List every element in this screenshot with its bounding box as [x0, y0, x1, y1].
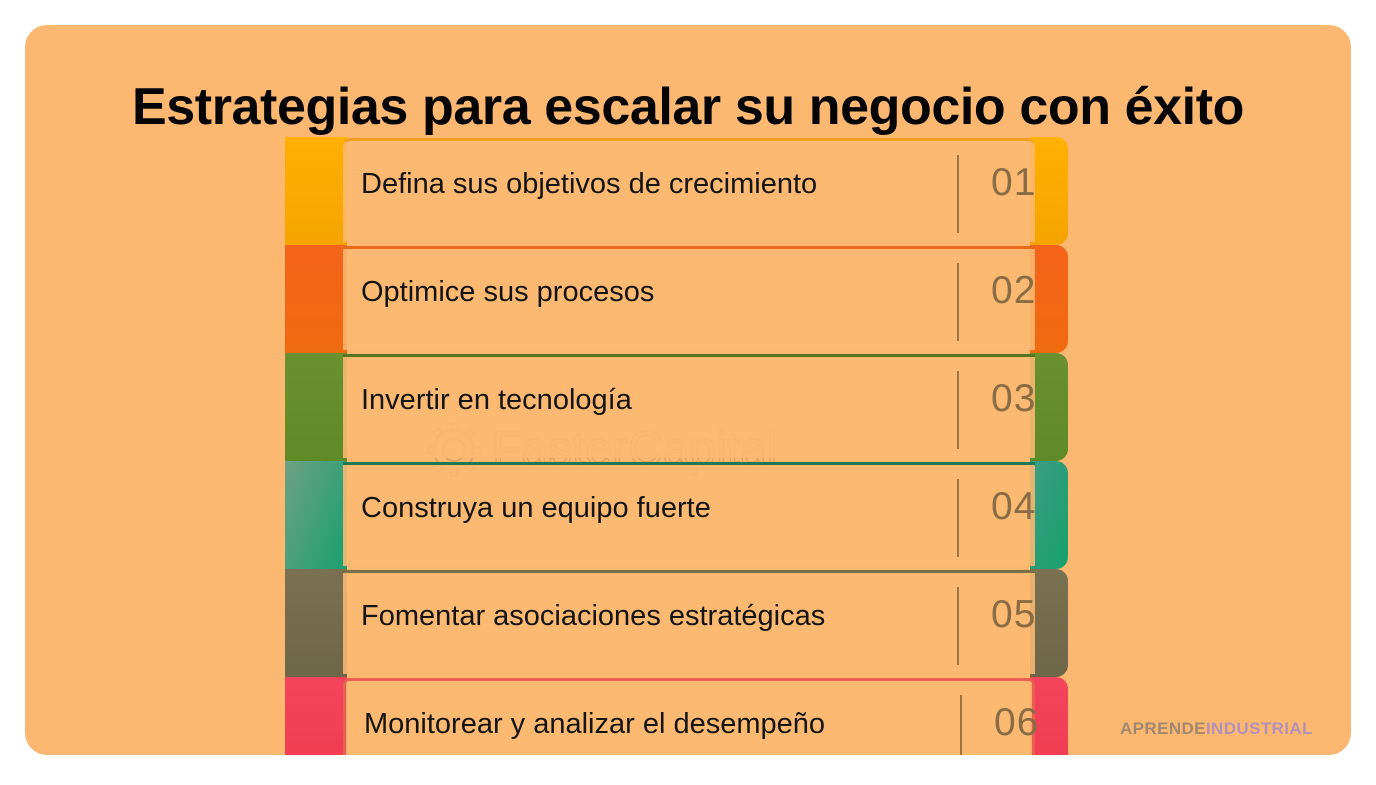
step-panel: Defina sus objetivos de crecimiento 01 — [343, 138, 1035, 242]
slide-canvas: Estrategias para escalar su negocio con … — [0, 0, 1376, 785]
step-row-3[interactable]: Invertir en tecnología 03 — [260, 353, 1351, 461]
step-number: 06 — [994, 699, 1039, 747]
step-number: 03 — [991, 375, 1036, 423]
step-label: Construya un equipo fuerte — [361, 487, 921, 530]
step-label: Invertir en tecnología — [361, 379, 921, 422]
step-panel: Fomentar asociaciones estratégicas 05 — [343, 570, 1035, 674]
step-color-bar-left — [285, 677, 347, 755]
brand-part-two: INDUSTRIAL — [1206, 719, 1313, 738]
step-divider — [957, 155, 959, 233]
step-color-bar-left — [285, 137, 347, 245]
step-label: Defina sus objetivos de crecimiento — [361, 163, 921, 206]
step-divider — [960, 695, 962, 755]
step-number: 04 — [991, 483, 1036, 531]
step-label: Monitorear y analizar el desempeño — [364, 703, 924, 746]
step-divider — [957, 587, 959, 665]
step-row-1[interactable]: Defina sus objetivos de crecimiento 01 — [260, 137, 1351, 245]
steps-list: Defina sus objetivos de crecimiento 01 O… — [260, 112, 1351, 755]
step-row-6[interactable]: Monitorear y analizar el desempeño 06 — [260, 677, 1351, 755]
step-color-bar-left — [285, 569, 347, 677]
step-row-5[interactable]: Fomentar asociaciones estratégicas 05 — [260, 569, 1351, 677]
brand-part-one: APRENDE — [1120, 719, 1206, 738]
step-label: Fomentar asociaciones estratégicas — [361, 595, 921, 638]
step-number: 02 — [991, 267, 1036, 315]
step-divider — [957, 479, 959, 557]
brand-logo: APRENDEINDUSTRIAL — [1120, 719, 1313, 739]
step-label: Optimice sus procesos — [361, 271, 921, 314]
step-panel: Optimice sus procesos 02 — [343, 246, 1035, 350]
step-divider — [957, 263, 959, 341]
step-number: 05 — [991, 591, 1036, 639]
step-panel: Construya un equipo fuerte 04 — [343, 462, 1035, 566]
step-panel: Monitorear y analizar el desempeño 06 — [343, 678, 1035, 755]
step-color-bar-left — [285, 461, 347, 569]
step-color-bar-left — [285, 245, 347, 353]
step-number: 01 — [991, 159, 1036, 207]
step-row-4[interactable]: Construya un equipo fuerte 04 — [260, 461, 1351, 569]
step-divider — [957, 371, 959, 449]
step-panel: Invertir en tecnología 03 — [343, 354, 1035, 458]
step-color-bar-left — [285, 353, 347, 461]
content-card: Estrategias para escalar su negocio con … — [25, 25, 1351, 755]
step-row-2[interactable]: Optimice sus procesos 02 — [260, 245, 1351, 353]
